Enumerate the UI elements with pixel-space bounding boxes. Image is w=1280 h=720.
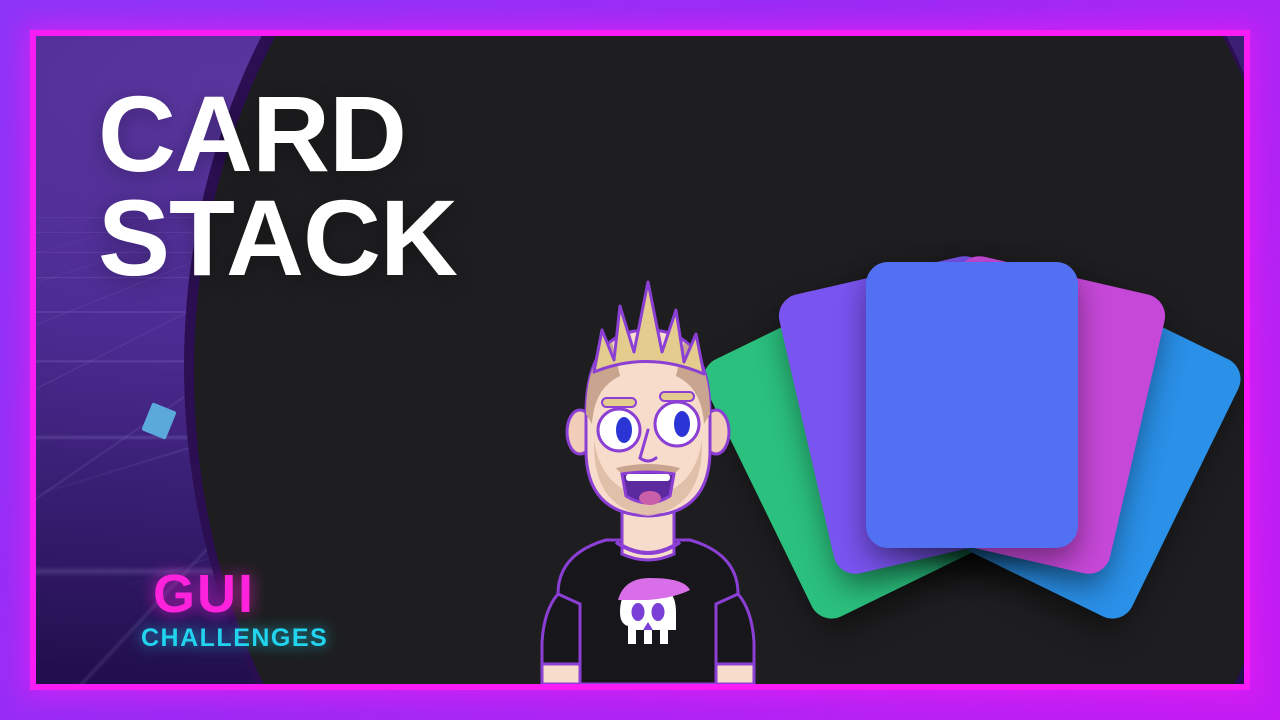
- host-avatar: [498, 264, 798, 684]
- arm-left: [542, 664, 580, 684]
- logo-secondary-text: CHALLENGES: [141, 626, 328, 651]
- teeth: [626, 474, 670, 481]
- skull-eye-right: [652, 603, 665, 621]
- gui-challenges-logo: GUI CHALLENGES: [153, 567, 328, 651]
- thumbnail-canvas: CARD STACK GUI CHALLENGES: [0, 0, 1280, 720]
- arm-right: [716, 664, 754, 684]
- hair-spikes: [594, 282, 704, 374]
- title-line-1: CARD: [98, 82, 457, 186]
- iris-left: [616, 417, 632, 443]
- stage: CARD STACK GUI CHALLENGES: [36, 36, 1244, 684]
- iris-right: [674, 411, 690, 437]
- card-stack[interactable]: [726, 222, 1226, 622]
- tongue: [639, 491, 661, 505]
- page-title: CARD STACK: [98, 82, 457, 289]
- logo-primary-text: GUI: [153, 567, 328, 621]
- eyebrow-right: [660, 392, 694, 401]
- title-line-2: STACK: [98, 186, 457, 290]
- eyebrow-left: [602, 398, 636, 407]
- skull-eye-left: [632, 603, 645, 621]
- card-top[interactable]: [866, 262, 1078, 548]
